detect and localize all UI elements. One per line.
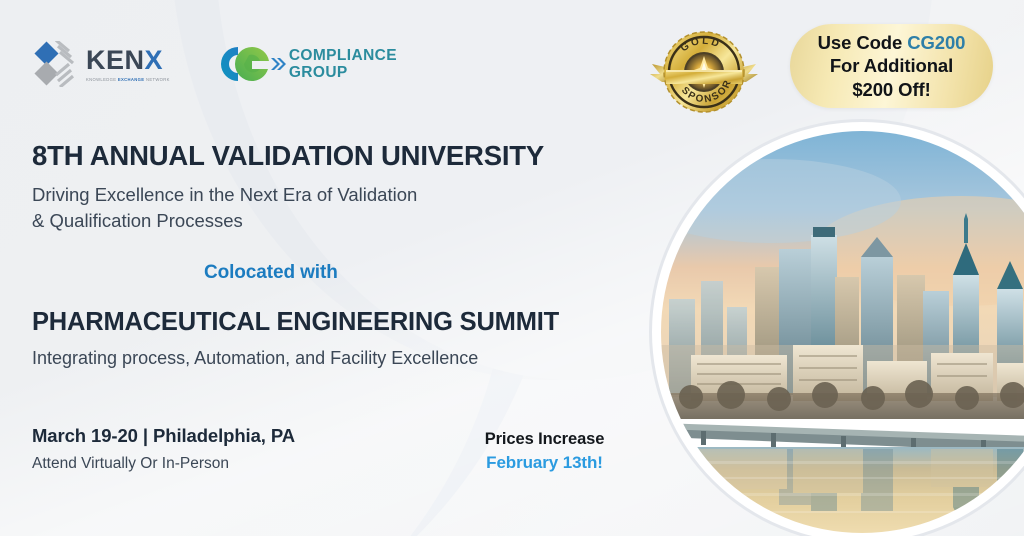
promo-code-value: CG200 <box>907 32 965 53</box>
gold-sponsor-seal-icon: GOLD SPONSOR <box>648 22 760 122</box>
cg-line-2: GROUP <box>289 64 397 81</box>
cg-monogram-icon <box>208 38 286 90</box>
attendance-mode: Attend Virtually Or In-Person <box>32 455 295 473</box>
kenx-diamond-x-icon <box>32 41 80 87</box>
main-copy: 8TH ANNUAL VALIDATION UNIVERSITY Driving… <box>32 140 632 372</box>
main-subtitle: Driving Excellence in the Next Era of Va… <box>32 182 632 235</box>
logo-row: KENX KNOWLEDGE EXCHANGE NETWORK <box>32 38 397 90</box>
kenx-tagline: KNOWLEDGE EXCHANGE NETWORK <box>86 77 170 82</box>
page-title: 8TH ANNUAL VALIDATION UNIVERSITY <box>32 140 632 172</box>
promo-line-2: For Additional <box>830 54 953 77</box>
philadelphia-skyline-photo <box>652 122 1024 536</box>
promo-line-3: $200 Off! <box>852 78 930 101</box>
date-location: March 19-20 | Philadelphia, PA <box>32 425 295 447</box>
colocated-label: Colocated with <box>204 262 632 284</box>
event-promo-banner: KENX KNOWLEDGE EXCHANGE NETWORK <box>0 0 1024 536</box>
kenx-name: KENX <box>86 47 170 74</box>
main-subtitle-line-2: & Qualification Processes <box>32 210 243 231</box>
promo-line-1: Use Code CG200 <box>818 31 966 54</box>
event-details: March 19-20 | Philadelphia, PA Attend Vi… <box>32 425 295 473</box>
compliance-group-logo[interactable]: COMPLIANCE GROUP <box>208 38 397 90</box>
kenx-wordmark: KENX KNOWLEDGE EXCHANGE NETWORK <box>86 47 170 82</box>
price-increase-date: February 13th! <box>452 453 637 473</box>
promo-code-pill[interactable]: Use Code CG200 For Additional $200 Off! <box>790 24 993 108</box>
cg-line-1: COMPLIANCE <box>289 47 397 64</box>
main-subtitle-line-1: Driving Excellence in the Next Era of Va… <box>32 184 417 205</box>
secondary-subtitle: Integrating process, Automation, and Fac… <box>32 346 632 371</box>
kenx-logo[interactable]: KENX KNOWLEDGE EXCHANGE NETWORK <box>32 41 170 87</box>
secondary-title: PHARMACEUTICAL ENGINEERING SUMMIT <box>32 308 632 337</box>
price-notice-block: Prices Increase February 13th! <box>452 430 637 473</box>
price-notice-label: Prices Increase <box>452 430 637 449</box>
compliance-group-wordmark: COMPLIANCE GROUP <box>289 47 397 81</box>
